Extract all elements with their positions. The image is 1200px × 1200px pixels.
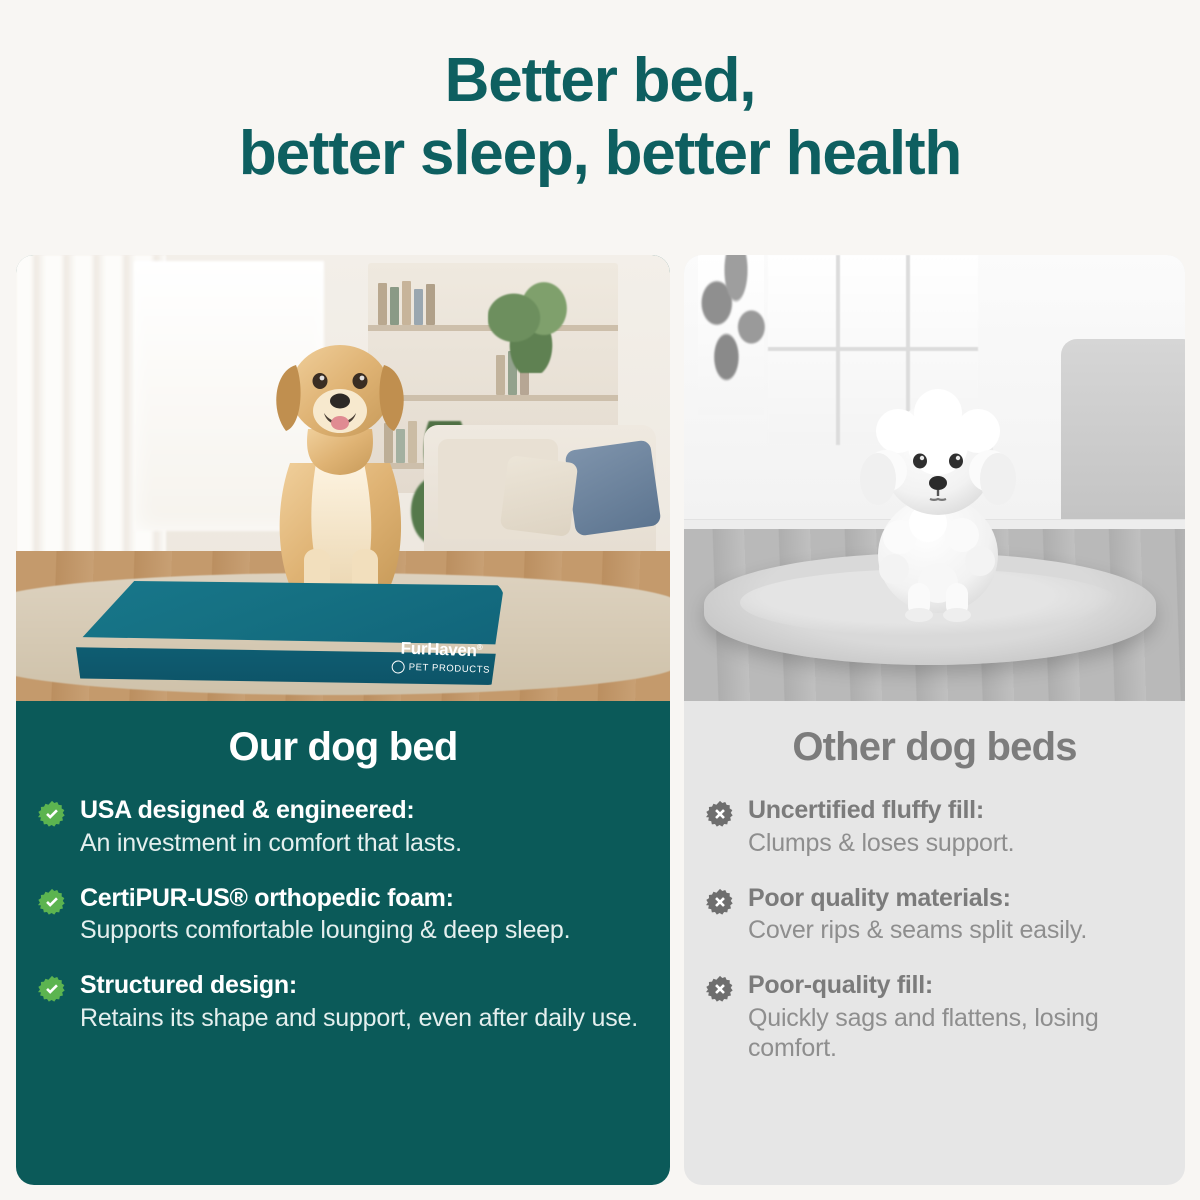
feature-title: Poor quality materials: (748, 884, 1163, 914)
x-badge-icon (706, 975, 734, 1003)
feature-item: Poor-quality fill: Quickly sags and flat… (706, 971, 1163, 1063)
feature-item: Uncertified fluffy fill: Clumps & loses … (706, 796, 1163, 858)
feature-text: Poor quality materials: Cover rips & sea… (748, 884, 1163, 946)
other-dog-beds-photo (684, 255, 1185, 701)
registered-mark: ® (476, 643, 482, 652)
feature-item: Structured design: Retains its shape and… (38, 971, 648, 1033)
feature-desc: Cover rips & seams split easily. (748, 915, 1163, 945)
headline-line-1: Better bed, (0, 44, 1200, 117)
feature-desc: Supports comfortable lounging & deep sle… (80, 915, 648, 945)
other-dog-beds-card: Other dog beds Uncertified fluffy fill: … (684, 255, 1185, 1185)
feature-title: Structured design: (80, 971, 648, 1001)
feature-desc: Quickly sags and flattens, losing comfor… (748, 1003, 1163, 1063)
brand-tagline: PET PRODUCTS (408, 662, 490, 676)
other-dog-beds-title: Other dog beds (706, 725, 1163, 770)
page-headline: Better bed, better sleep, better health (0, 44, 1200, 190)
armchair (1061, 339, 1185, 539)
feature-item: Poor quality materials: Cover rips & sea… (706, 884, 1163, 946)
feature-title: USA designed & engineered: (80, 796, 648, 826)
furhaven-logo: FurHaven® PET PRODUCTS (391, 639, 491, 676)
feature-title: Poor-quality fill: (748, 971, 1163, 1001)
headline-line-2: better sleep, better health (0, 117, 1200, 190)
check-badge-icon (38, 975, 66, 1003)
feature-item: USA designed & engineered: An investment… (38, 796, 648, 858)
feature-text: Poor-quality fill: Quickly sags and flat… (748, 971, 1163, 1063)
our-dog-bed-title: Our dog bed (38, 725, 648, 770)
white-bichon-illustration (842, 387, 1034, 627)
feature-desc: An investment in comfort that lasts. (80, 828, 648, 858)
blue-throw-pillow (564, 439, 661, 536)
x-badge-icon (706, 888, 734, 916)
feature-title: CertiPUR-US® orthopedic foam: (80, 884, 648, 914)
feature-text: Structured design: Retains its shape and… (80, 971, 648, 1033)
potted-plant-shelf (488, 281, 574, 373)
feature-item: CertiPUR-US® orthopedic foam: Supports c… (38, 884, 648, 946)
feature-desc: Retains its shape and support, even afte… (80, 1003, 648, 1033)
cream-throw-pillow (500, 455, 578, 537)
our-dog-bed-content: Our dog bed USA designed & engineered: A… (16, 701, 670, 1185)
check-badge-icon (38, 800, 66, 828)
our-dog-bed-card: FurHaven® PET PRODUCTS Our dog bed USA d… (16, 255, 670, 1185)
feature-text: CertiPUR-US® orthopedic foam: Supports c… (80, 884, 648, 946)
other-dog-beds-content: Other dog beds Uncertified fluffy fill: … (684, 701, 1185, 1185)
feature-desc: Clumps & loses support. (748, 828, 1163, 858)
x-badge-icon (706, 800, 734, 828)
check-badge-icon (38, 888, 66, 916)
paw-circle-icon (391, 660, 404, 673)
teal-orthopedic-dog-bed: FurHaven® PET PRODUCTS (74, 581, 504, 685)
feature-text: Uncertified fluffy fill: Clumps & loses … (748, 796, 1163, 858)
comparison-panels: FurHaven® PET PRODUCTS Our dog bed USA d… (16, 255, 1185, 1185)
feature-text: USA designed & engineered: An investment… (80, 796, 648, 858)
brand-name: FurHaven® (392, 639, 491, 659)
plant-branch (688, 255, 784, 399)
feature-title: Uncertified fluffy fill: (748, 796, 1163, 826)
our-dog-bed-photo: FurHaven® PET PRODUCTS (16, 255, 670, 701)
golden-retriever-illustration (212, 313, 462, 623)
